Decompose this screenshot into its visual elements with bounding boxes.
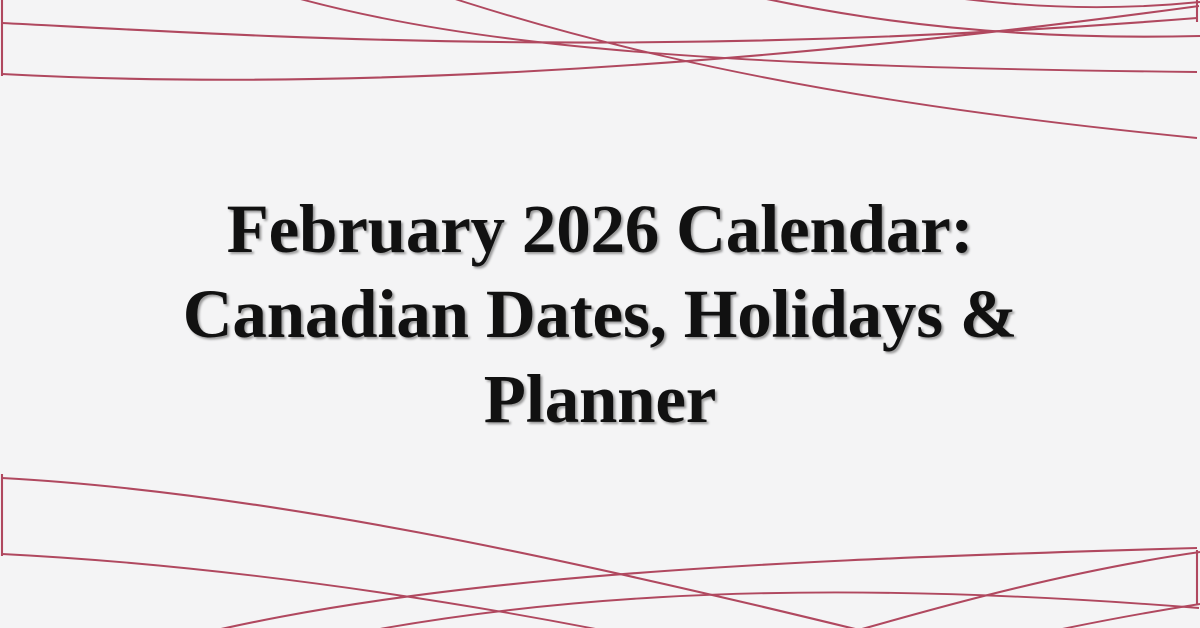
title-card: February 2026 Calendar: Canadian Dates, … <box>0 0 1200 628</box>
title-container: February 2026 Calendar: Canadian Dates, … <box>0 0 1200 628</box>
page-title: February 2026 Calendar: Canadian Dates, … <box>150 187 1050 442</box>
